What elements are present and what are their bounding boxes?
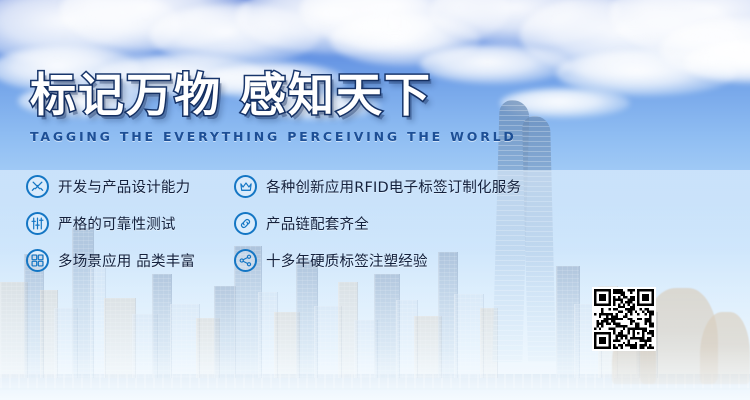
skyline-building <box>354 320 378 378</box>
feature-label: 各种创新应用RFID电子标签订制化服务 <box>266 176 521 197</box>
skyline-building <box>196 318 220 378</box>
feature-label: 十多年硬质标签注塑经验 <box>266 250 428 271</box>
skyline-building <box>374 274 400 378</box>
skyline-building <box>170 304 200 378</box>
skyline-building <box>274 312 300 378</box>
feature-list: 开发与产品设计能力各种创新应用RFID电子标签订制化服务严格的可靠性测试产品链配… <box>26 168 726 279</box>
cloud-puff <box>660 18 750 80</box>
feature-label: 多场景应用 品类丰富 <box>58 250 195 271</box>
skyline-building <box>132 314 158 378</box>
feature-item-crown: 各种创新应用RFID电子标签订制化服务 <box>234 168 726 205</box>
cloud-puff <box>684 40 750 84</box>
skyline-building <box>152 274 172 378</box>
cloud-puff <box>0 0 180 66</box>
cloud-puff <box>500 88 630 118</box>
skyline-building <box>258 292 278 378</box>
share-icon <box>234 249 257 272</box>
link-icon <box>234 212 257 235</box>
cloud-puff <box>610 0 750 62</box>
skyline-building <box>314 306 342 378</box>
cloud-puff <box>236 0 436 54</box>
feature-item-share: 十多年硬质标签注塑经验 <box>234 242 726 279</box>
feature-label: 产品链配套齐全 <box>266 213 369 234</box>
page-title: 标记万物 感知天下 <box>30 72 517 118</box>
cloud-puff <box>150 4 320 66</box>
skyline-building <box>40 290 58 378</box>
tools-icon <box>26 175 49 198</box>
headline-block: 标记万物 感知天下 TAGGING THE EVERYTHING PERCEIV… <box>30 72 517 144</box>
qr-code-canvas <box>594 289 654 349</box>
cloud-puff <box>300 0 510 50</box>
skyline-building <box>556 266 580 378</box>
skyline-building <box>104 298 136 378</box>
cloud-puff <box>330 14 480 66</box>
promo-banner: 标记万物 感知天下 TAGGING THE EVERYTHING PERCEIV… <box>0 0 750 400</box>
cloud-puff <box>430 0 620 46</box>
rock-formation <box>700 312 750 384</box>
skyline-building <box>338 282 358 378</box>
feature-item-link: 产品链配套齐全 <box>234 205 726 242</box>
skyline-building <box>54 308 78 378</box>
skyline-building <box>214 286 236 378</box>
grid-icon <box>26 249 49 272</box>
skyline-building <box>396 300 418 378</box>
cloud-puff <box>60 0 250 50</box>
skyline-building <box>414 316 442 378</box>
sliders-icon <box>26 212 49 235</box>
waterfront-pier <box>0 374 750 390</box>
skyline-building <box>454 294 484 378</box>
feature-item-tools: 开发与产品设计能力 <box>26 168 234 205</box>
skyline-building <box>0 282 28 378</box>
qr-code[interactable] <box>592 287 656 351</box>
cloud-puff <box>520 0 740 78</box>
feature-item-sliders: 严格的可靠性测试 <box>26 205 234 242</box>
water-strip <box>0 388 750 400</box>
feature-item-grid: 多场景应用 品类丰富 <box>26 242 234 279</box>
feature-label: 严格的可靠性测试 <box>58 213 176 234</box>
page-subtitle: TAGGING THE EVERYTHING PERCEIVING THE WO… <box>30 129 517 144</box>
feature-label: 开发与产品设计能力 <box>58 176 190 197</box>
skyline-building <box>90 268 106 378</box>
crown-icon <box>234 175 257 198</box>
cloud-puff <box>556 50 736 96</box>
skyline-building <box>480 308 498 378</box>
